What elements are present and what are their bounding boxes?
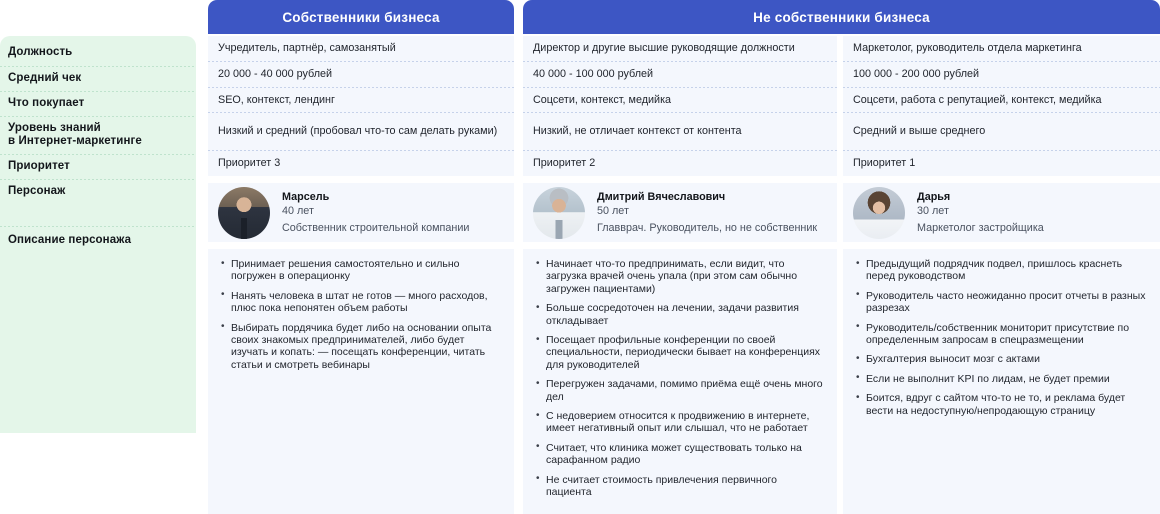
list-item: Не считает стоимость привлечения первичн…	[535, 474, 825, 499]
persona-age: 40 лет	[282, 204, 469, 218]
header-non-owners: Не собственники бизнеса	[523, 0, 1160, 34]
row-label-knowledge-2: в Интернет-маркетинге	[8, 135, 186, 148]
persona-age: 50 лет	[597, 204, 817, 218]
description-block: Предыдущий подрядчик подвел, пришлось кр…	[843, 249, 1160, 425]
cell-priority: Приоритет 3	[208, 151, 514, 176]
photo-doctor-avatar	[533, 187, 585, 239]
cell-priority: Приоритет 2	[523, 151, 837, 176]
row-label-description: Описание персонажа	[8, 234, 186, 247]
row-label-column: Должность Средний чек Что покупает Урове…	[0, 36, 196, 433]
cell-knowledge: Средний и выше среднего	[843, 113, 1160, 150]
persona-card: Марсель 40 лет Собственник строительной …	[208, 183, 514, 242]
list-item: Если не выполнит KPI по лидам, не будет …	[855, 373, 1148, 385]
persona-card: Дарья 30 лет Маркетолог застройщика	[843, 183, 1160, 242]
column-2-persona: Дмитрий Вячеславович 50 лет Главврач. Ру…	[523, 183, 837, 242]
cell-position: Учредитель, партнёр, самозанятый	[208, 36, 514, 61]
photo-woman-avatar	[853, 187, 905, 239]
persona-text: Дарья 30 лет Маркетолог застройщика	[917, 191, 1044, 235]
persona-name: Дмитрий Вячеславович	[597, 191, 817, 204]
list-item: Принимает решения самостоятельно и сильн…	[220, 258, 502, 283]
label-divider	[0, 116, 196, 117]
list-item: Посещает профильные конференции по своей…	[535, 334, 825, 371]
column-2-attributes: Директор и другие высшие руководящие дол…	[523, 36, 837, 176]
section-gap	[208, 176, 514, 183]
persona-name: Дарья	[917, 191, 1044, 204]
list-item: Бухгалтерия выносит мозг с актами	[855, 353, 1148, 365]
list-item: Выбирать пордячика будет либо на основан…	[220, 322, 502, 372]
section-gap	[843, 176, 1160, 183]
cell-buys: Соцсети, контекст, медийка	[523, 88, 837, 112]
column-1-description: Принимает решения самостоятельно и сильн…	[208, 249, 514, 514]
description-block: Начинает что-то предпринимать, если види…	[523, 249, 837, 507]
description-block: Принимает решения самостоятельно и сильн…	[208, 249, 514, 379]
column-owners: Учредитель, партнёр, самозанятый 20 000 …	[208, 36, 514, 514]
persona-card: Дмитрий Вячеславович 50 лет Главврач. Ру…	[523, 183, 837, 242]
list-item: Боится, вдруг с сайтом что-то не то, и р…	[855, 392, 1148, 417]
list-item: Больше сосредоточен на лечении, задачи р…	[535, 302, 825, 327]
cell-buys: SEO, контекст, лендинг	[208, 88, 514, 112]
cell-position: Директор и другие высшие руководящие дол…	[523, 36, 837, 61]
row-label-persona: Персонаж	[8, 185, 186, 198]
list-item: С недоверием относится к продвижению в и…	[535, 410, 825, 435]
cell-avg-check: 20 000 - 40 000 рублей	[208, 62, 514, 87]
list-item: Начинает что-то предпринимать, если види…	[535, 258, 825, 295]
column-3-description: Предыдущий подрядчик подвел, пришлось кр…	[843, 249, 1160, 514]
section-gap	[208, 242, 514, 249]
label-divider	[0, 91, 196, 92]
section-gap	[523, 242, 837, 249]
persona-text: Дмитрий Вячеславович 50 лет Главврач. Ру…	[597, 191, 817, 235]
header-owners: Собственники бизнеса	[208, 0, 514, 34]
column-non-owners-director: Директор и другие высшие руководящие дол…	[523, 36, 837, 514]
cell-avg-check: 100 000 - 200 000 рублей	[843, 62, 1160, 87]
list-item: Руководитель часто неожиданно просит отч…	[855, 290, 1148, 315]
description-list: Предыдущий подрядчик подвел, пришлось кр…	[855, 258, 1148, 417]
persona-role: Маркетолог застройщика	[917, 221, 1044, 235]
description-list: Принимает решения самостоятельно и сильн…	[220, 258, 502, 371]
persona-role: Главврач. Руководитель, но не собственни…	[597, 221, 817, 235]
column-3-persona: Дарья 30 лет Маркетолог застройщика	[843, 183, 1160, 242]
column-1-attributes: Учредитель, партнёр, самозанятый 20 000 …	[208, 36, 514, 176]
list-item: Перегружен задачами, помимо приёма ещё о…	[535, 378, 825, 403]
column-1-persona: Марсель 40 лет Собственник строительной …	[208, 183, 514, 242]
section-gap	[843, 242, 1160, 249]
row-label-avg-check: Средний чек	[8, 72, 186, 85]
label-divider	[0, 154, 196, 155]
row-label-priority: Приоритет	[8, 160, 186, 173]
persona-comparison-table: Должность Средний чек Что покупает Урове…	[0, 0, 1160, 433]
column-2-description: Начинает что-то предпринимать, если види…	[523, 249, 837, 514]
cell-buys: Соцсети, работа с репутацией, контекст, …	[843, 88, 1160, 112]
column-3-attributes: Маркетолог, руководитель отдела маркетин…	[843, 36, 1160, 176]
cell-avg-check: 40 000 - 100 000 рублей	[523, 62, 837, 87]
photo-man-suit-avatar	[218, 187, 270, 239]
row-label-buys: Что покупает	[8, 97, 186, 110]
cell-knowledge: Низкий и средний (пробовал что-то сам де…	[208, 113, 514, 150]
row-label-position: Должность	[8, 46, 186, 59]
list-item: Предыдущий подрядчик подвел, пришлось кр…	[855, 258, 1148, 283]
persona-name: Марсель	[282, 191, 469, 204]
list-item: Нанять человека в штат не готов — много …	[220, 290, 502, 315]
persona-text: Марсель 40 лет Собственник строительной …	[282, 191, 469, 235]
cell-position: Маркетолог, руководитель отдела маркетин…	[843, 36, 1160, 61]
label-divider	[0, 226, 196, 227]
label-divider	[0, 66, 196, 67]
list-item: Руководитель/собственник мониторит прису…	[855, 322, 1148, 347]
persona-role: Собственник строительной компании	[282, 221, 469, 235]
row-label-knowledge-1: Уровень знаний	[8, 122, 186, 135]
persona-age: 30 лет	[917, 204, 1044, 218]
section-gap	[523, 176, 837, 183]
list-item: Считает, что клиника может существовать …	[535, 442, 825, 467]
cell-priority: Приоритет 1	[843, 151, 1160, 176]
column-non-owners-marketer: Маркетолог, руководитель отдела маркетин…	[843, 36, 1160, 514]
description-list: Начинает что-то предпринимать, если види…	[535, 258, 825, 499]
label-divider	[0, 179, 196, 180]
cell-knowledge: Низкий, не отличает контекст от контента	[523, 113, 837, 150]
